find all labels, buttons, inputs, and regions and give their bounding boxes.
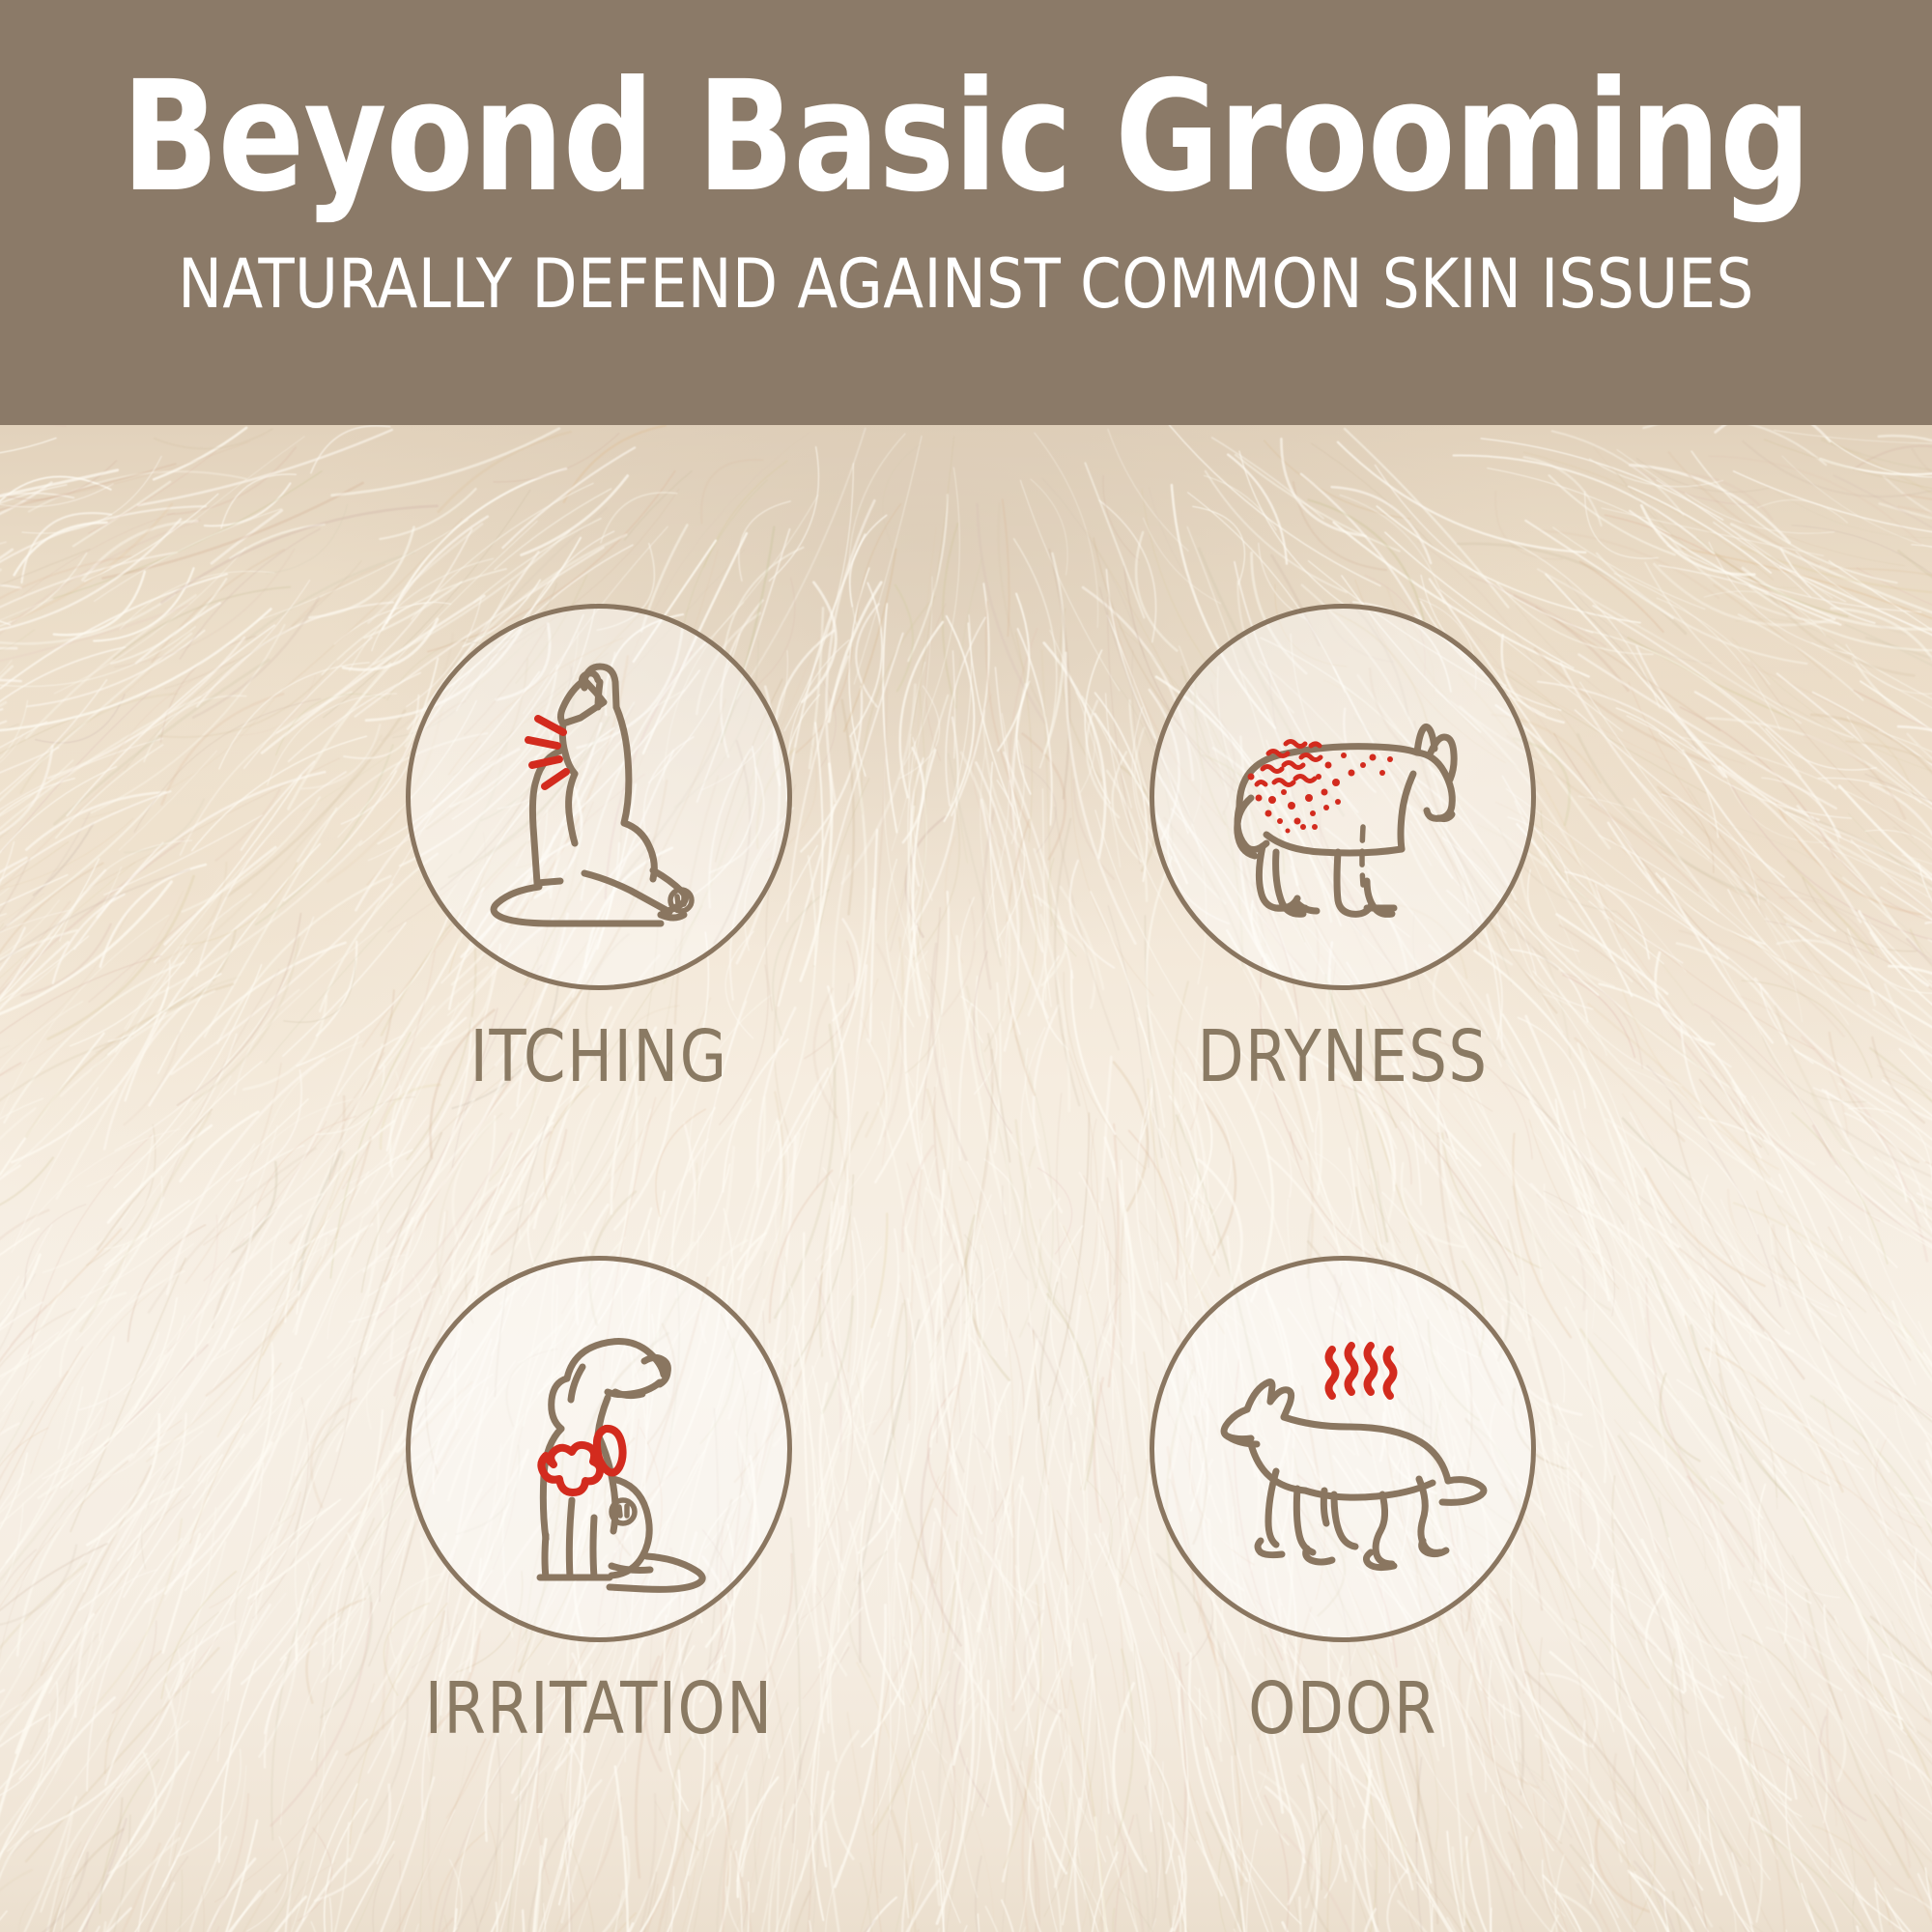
issue-label-itching: ITCHING [308,1021,890,1093]
icon-circle-odor [1150,1256,1536,1642]
issue-label-odor: ODOR [1052,1673,1634,1745]
infographic-canvas: Beyond Basic Grooming NATURALLY DEFEND A… [0,0,1932,1932]
icon-circle-irritation [406,1256,792,1642]
issue-card-irritation[interactable]: IRRITATION [290,1256,908,1745]
page-title: Beyond Basic Grooming [122,60,1810,215]
dry-flakes-accent [1248,742,1394,834]
dog-walking-odor-icon [1183,1290,1502,1608]
odor-wavy-lines-accent [1329,1346,1394,1396]
skin-issues-grid: ITCHING [0,425,1932,1932]
issue-label-irritation: IRRITATION [308,1673,890,1745]
dog-scratching-icon [440,638,758,956]
issue-label-dryness: DRYNESS [1052,1021,1634,1093]
dog-flaky-skin-icon [1183,638,1502,956]
issue-card-dryness[interactable]: DRYNESS [1034,604,1652,1093]
issue-card-odor[interactable]: ODOR [1034,1256,1652,1745]
header-banner: Beyond Basic Grooming NATURALLY DEFEND A… [0,0,1932,425]
issue-card-itching[interactable]: ITCHING [290,604,908,1093]
page-subtitle: NATURALLY DEFEND AGAINST COMMON SKIN ISS… [178,250,1754,318]
icon-circle-itching [406,604,792,990]
dog-sitting-irritated-patch-icon [440,1290,758,1608]
icon-circle-dryness [1150,604,1536,990]
